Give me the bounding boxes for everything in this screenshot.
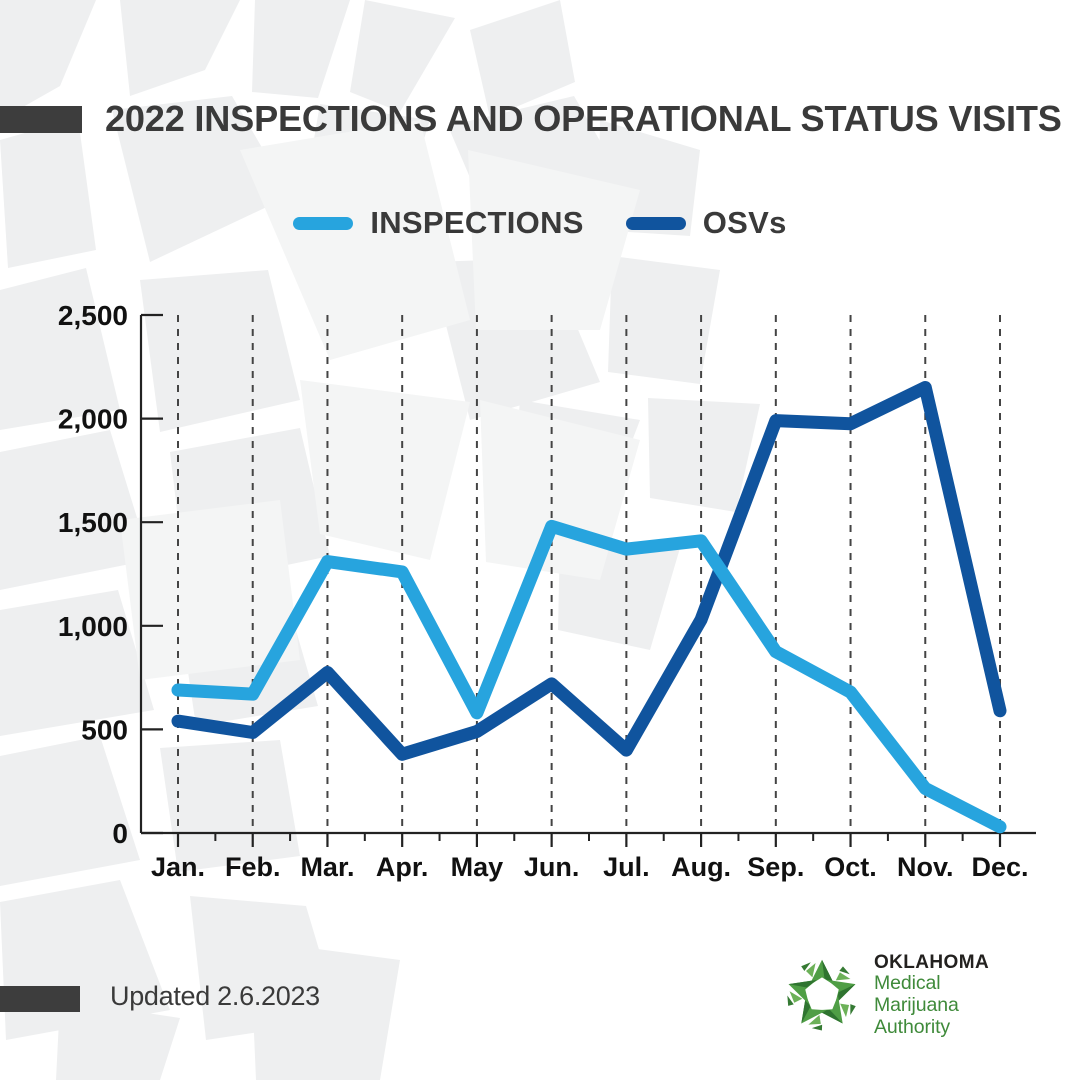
y-tick-label: 0 <box>112 818 128 849</box>
x-tick-label: Jun. <box>524 852 580 882</box>
chart-gridlines <box>178 315 1000 833</box>
chart-series <box>178 388 1000 827</box>
x-axis-tick-labels: Jan.Feb.Mar.Apr.MayJun.Jul.Aug.Sep.Oct.N… <box>151 852 1029 882</box>
footer-accent-bar <box>0 986 80 1012</box>
x-tick-label: Mar. <box>300 852 354 882</box>
omma-logo: OKLAHOMA Medical Marijuana Authority <box>782 952 1012 1038</box>
x-tick-label: Feb. <box>225 852 281 882</box>
series-line-inspections <box>178 526 1000 826</box>
series-line-osvs <box>178 388 1000 755</box>
x-tick-label: Jul. <box>603 852 650 882</box>
x-tick-label: Apr. <box>376 852 429 882</box>
x-tick-label: Dec. <box>971 852 1028 882</box>
x-tick-label: Jan. <box>151 852 205 882</box>
y-tick-label: 1,000 <box>58 611 128 642</box>
y-axis-tick-labels: 05001,0001,5002,0002,500 <box>58 300 128 849</box>
logo-line-authority: Authority <box>874 1017 1012 1039</box>
line-chart: 05001,0001,5002,0002,500 Jan.Feb.Mar.Apr… <box>0 0 1080 1080</box>
x-tick-label: Aug. <box>671 852 731 882</box>
y-tick-label: 500 <box>81 714 128 745</box>
y-tick-label: 1,500 <box>58 507 128 538</box>
x-tick-label: Nov. <box>897 852 954 882</box>
x-tick-label: May <box>451 852 504 882</box>
x-tick-label: Sep. <box>747 852 804 882</box>
omma-star-icon <box>782 955 862 1035</box>
y-tick-label: 2,000 <box>58 404 128 435</box>
x-tick-label: Oct. <box>824 852 877 882</box>
logo-line-oklahoma: OKLAHOMA <box>874 952 1012 973</box>
updated-timestamp: Updated 2.6.2023 <box>110 981 320 1012</box>
logo-line-medical-marijuana: Medical Marijuana <box>874 973 1012 1017</box>
y-tick-label: 2,500 <box>58 300 128 331</box>
